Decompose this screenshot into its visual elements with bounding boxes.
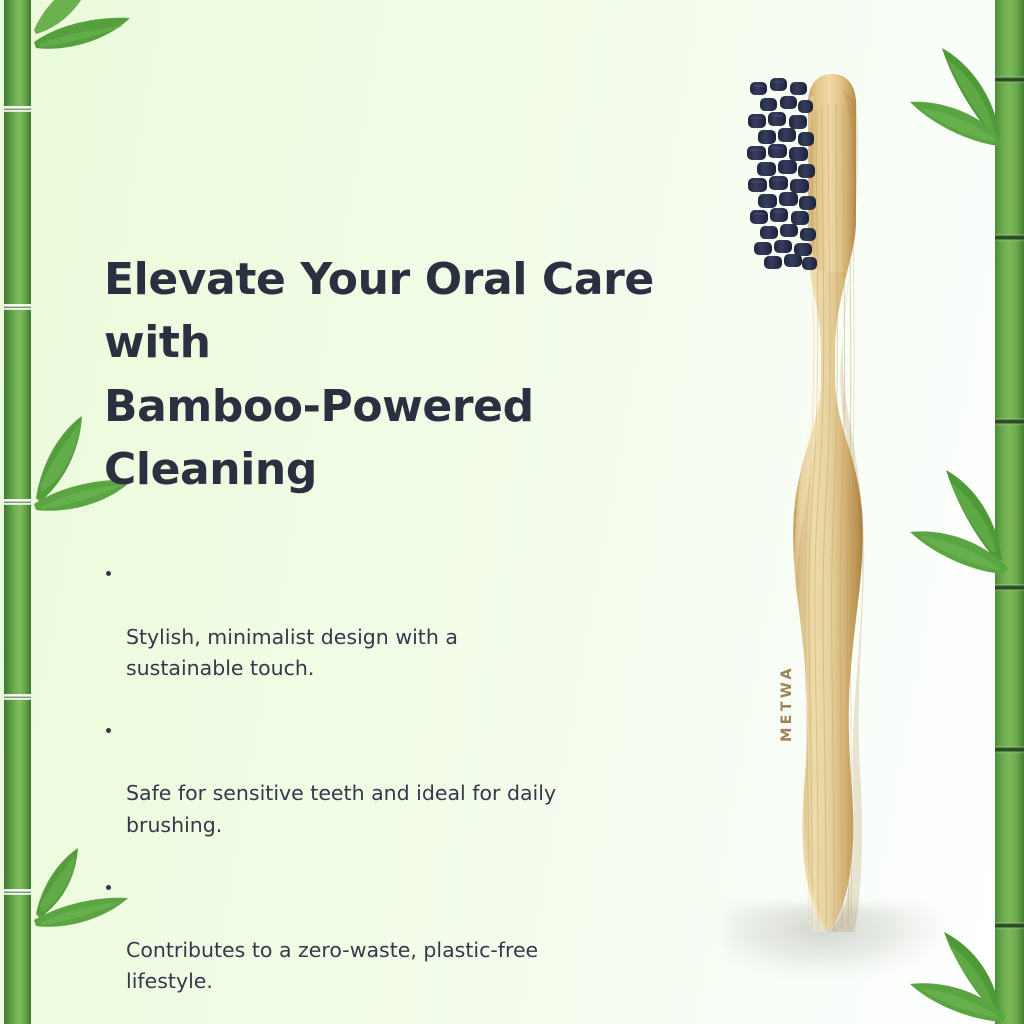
bullet-dot-icon bbox=[106, 728, 111, 733]
list-item: Safe for sensitive teeth and ideal for d… bbox=[104, 716, 604, 841]
bamboo-joint bbox=[4, 106, 31, 112]
bamboo-leaf-group-right-middle bbox=[908, 468, 1024, 598]
page-title: Elevate Your Oral Care with Bamboo-Power… bbox=[104, 248, 724, 501]
bamboo-leaf-highlight-icon bbox=[40, 856, 76, 912]
bamboo-joint bbox=[995, 922, 1024, 929]
bullet-dot-icon bbox=[106, 885, 111, 890]
bamboo-joint bbox=[4, 304, 31, 310]
bamboo-joint bbox=[995, 418, 1024, 425]
list-item: Stylish, minimalist design with a sustai… bbox=[104, 559, 604, 684]
bamboo-joint bbox=[995, 746, 1024, 753]
feature-text-block: Elevate Your Oral Care with Bamboo-Power… bbox=[104, 248, 724, 1024]
toothbrush-bristles bbox=[747, 78, 817, 270]
bamboo-leaf-group-right-top bbox=[908, 42, 1024, 172]
list-item-label: Contributes to a zero-waste, plastic-fre… bbox=[126, 938, 538, 993]
bamboo-leaf-highlight-icon bbox=[40, 424, 80, 492]
feature-list: Stylish, minimalist design with a sustai… bbox=[104, 559, 724, 1024]
bamboo-joint bbox=[995, 234, 1024, 241]
list-item-label: Stylish, minimalist design with a sustai… bbox=[126, 625, 458, 680]
bullet-dot-icon bbox=[106, 571, 111, 576]
product-feature-banner: Elevate Your Oral Care with Bamboo-Power… bbox=[0, 0, 1024, 1024]
list-item: Contributes to a zero-waste, plastic-fre… bbox=[104, 873, 604, 998]
list-item-label: Safe for sensitive teeth and ideal for d… bbox=[126, 781, 556, 836]
bamboo-leaf-group-left-top bbox=[26, 0, 176, 102]
bamboo-toothbrush-image bbox=[742, 70, 922, 970]
bamboo-joint bbox=[4, 694, 31, 700]
